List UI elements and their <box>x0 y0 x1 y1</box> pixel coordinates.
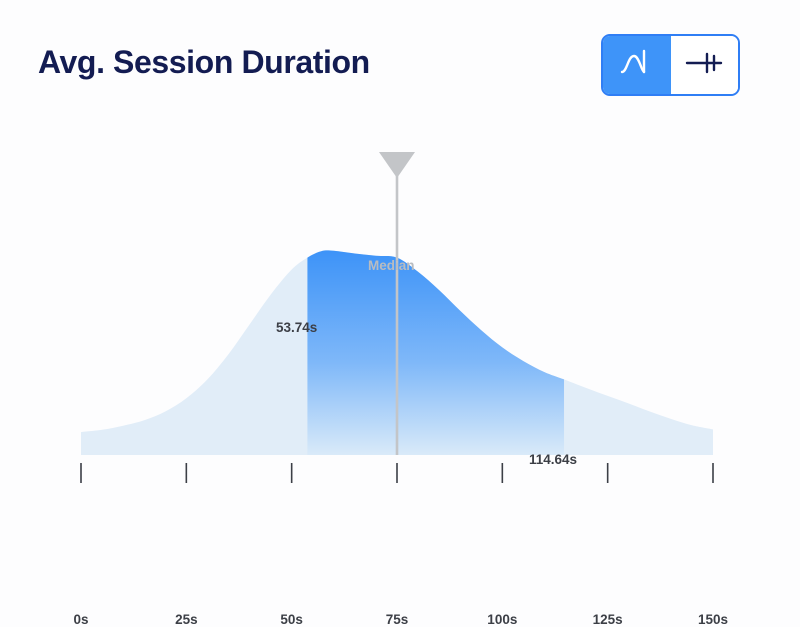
median-marker-triangle <box>379 152 415 178</box>
lower-bound-label: 53.74s <box>276 320 317 335</box>
toggle-density-view[interactable] <box>603 36 671 94</box>
x-axis-tick-label: 100s <box>487 612 517 627</box>
x-axis-tick-label: 0s <box>73 612 88 627</box>
chart-card: Avg. Session Duration <box>0 0 800 544</box>
x-axis-tick-label: 125s <box>593 612 623 627</box>
x-axis-tick-label: 25s <box>175 612 198 627</box>
x-axis-tick-label: 50s <box>280 612 303 627</box>
x-axis-tick-label: 75s <box>386 612 409 627</box>
view-toggle-group[interactable] <box>601 34 740 96</box>
toggle-boxplot-view[interactable] <box>671 36 739 94</box>
distribution-plot: 53.74s 114.64s Median 0s25s50s75s100s125… <box>0 120 800 544</box>
upper-bound-label: 114.64s <box>529 452 577 467</box>
x-axis-tick-label: 150s <box>698 612 728 627</box>
plot-canvas <box>0 120 800 544</box>
distribution-curve-icon <box>619 48 655 83</box>
page-title: Avg. Session Duration <box>38 44 370 81</box>
chart-header: Avg. Session Duration <box>0 0 800 120</box>
x-axis-ticks <box>81 463 713 483</box>
median-label: Median <box>368 258 415 273</box>
box-plot-icon <box>684 49 724 82</box>
